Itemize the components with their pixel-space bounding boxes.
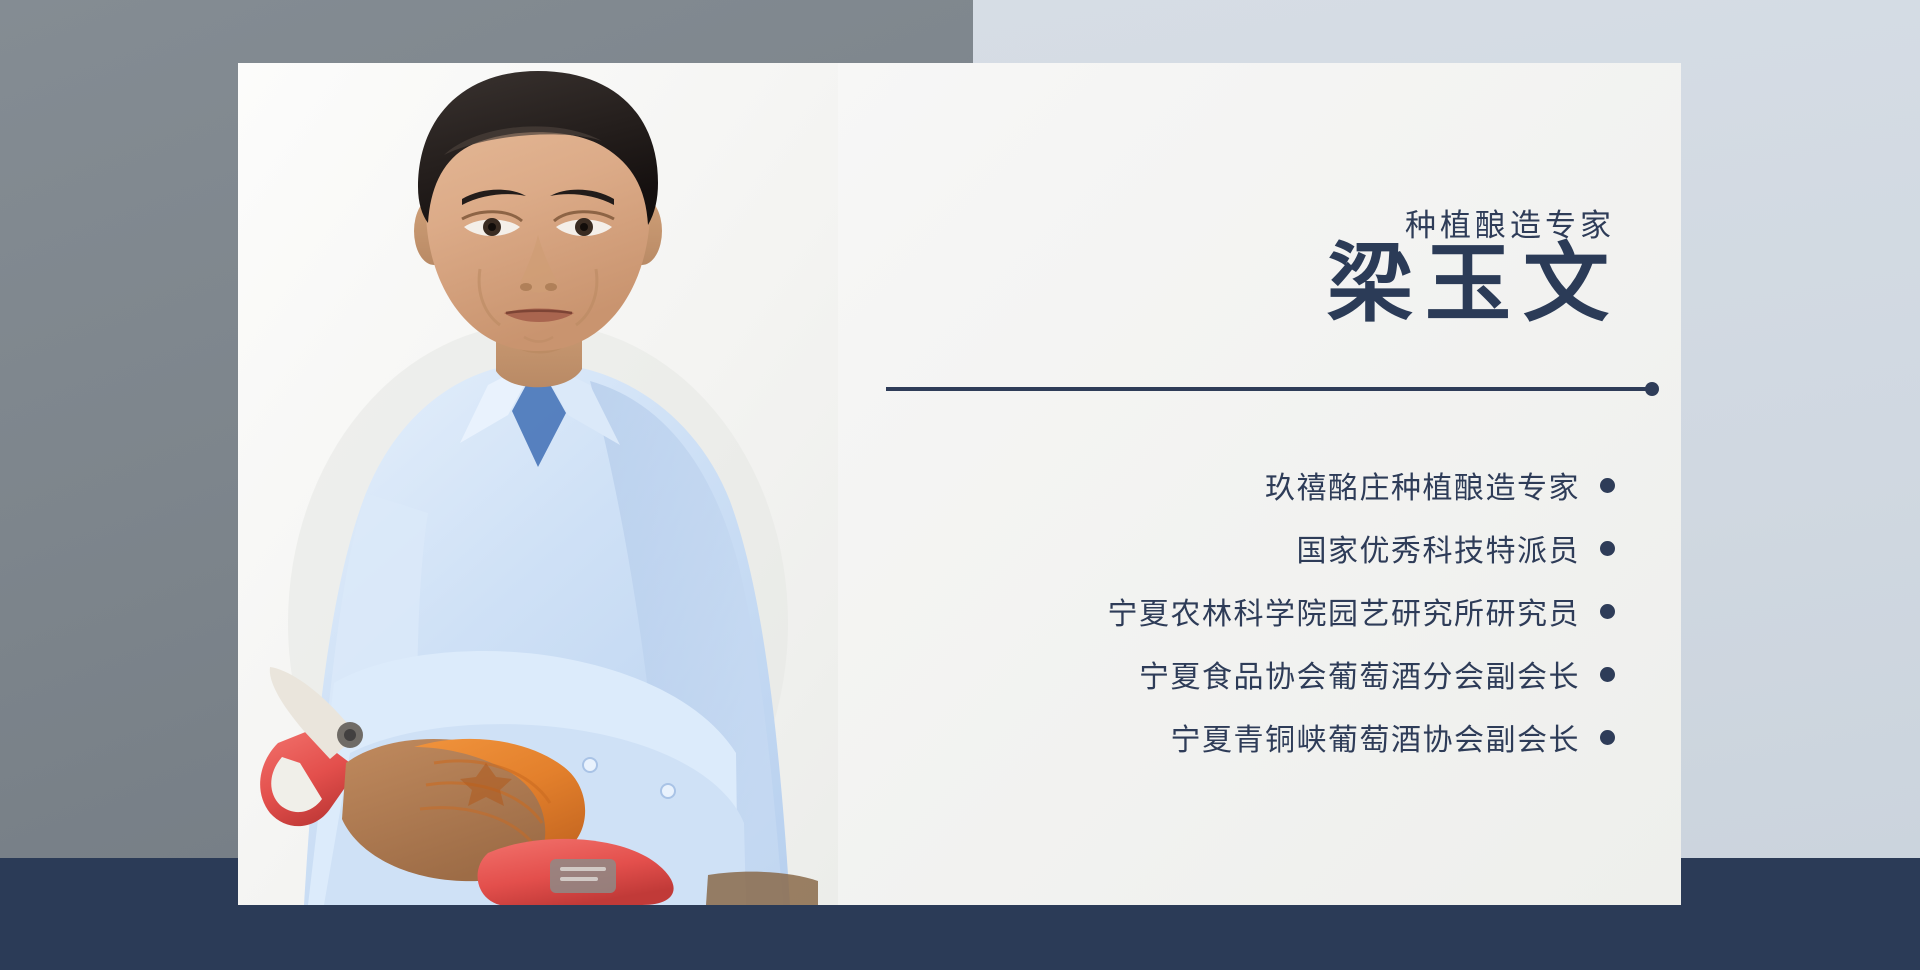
bullet-dot-icon bbox=[1600, 478, 1615, 493]
list-item: 国家优秀科技特派员 bbox=[875, 526, 1615, 570]
bullet-dot-icon bbox=[1600, 667, 1615, 682]
expert-profile-card: 种植酿造专家 梁玉文 玖禧酩庄种植酿造专家 国家优秀科技特派员 宁夏农林科学院园… bbox=[238, 63, 1681, 905]
bullet-dot-icon bbox=[1600, 730, 1615, 745]
list-item: 宁夏食品协会葡萄酒分会副会长 bbox=[875, 652, 1615, 696]
poster-stage: 种植酿造专家 梁玉文 玖禧酩庄种植酿造专家 国家优秀科技特派员 宁夏农林科学院园… bbox=[0, 0, 1920, 970]
divider-line bbox=[886, 387, 1647, 391]
credential-list: 玖禧酩庄种植酿造专家 国家优秀科技特派员 宁夏农林科学院园艺研究所研究员 宁夏食… bbox=[875, 463, 1615, 759]
belt bbox=[706, 872, 818, 905]
list-item: 玖禧酩庄种植酿造专家 bbox=[875, 463, 1615, 507]
divider bbox=[886, 381, 1659, 397]
portrait-illustration bbox=[238, 63, 838, 905]
bullet-dot-icon bbox=[1600, 604, 1615, 619]
credential-text: 宁夏青铜峡葡萄酒协会副会长 bbox=[1171, 715, 1581, 759]
credential-text: 宁夏食品协会葡萄酒分会副会长 bbox=[1139, 652, 1580, 696]
credential-text: 玖禧酩庄种植酿造专家 bbox=[1265, 463, 1580, 507]
bullet-dot-icon bbox=[1600, 541, 1615, 556]
expert-portrait bbox=[238, 63, 838, 905]
list-item: 宁夏青铜峡葡萄酒协会副会长 bbox=[875, 715, 1615, 759]
expert-name: 梁玉文 bbox=[1327, 238, 1621, 331]
credential-text: 宁夏农林科学院园艺研究所研究员 bbox=[1108, 589, 1581, 633]
credential-text: 国家优秀科技特派员 bbox=[1297, 526, 1581, 570]
tool-label bbox=[550, 859, 616, 893]
expert-info-column: 种植酿造专家 梁玉文 玖禧酩庄种植酿造专家 国家优秀科技特派员 宁夏农林科学院园… bbox=[838, 63, 1681, 905]
list-item: 宁夏农林科学院园艺研究所研究员 bbox=[875, 589, 1615, 633]
divider-end-dot-icon bbox=[1645, 382, 1659, 396]
